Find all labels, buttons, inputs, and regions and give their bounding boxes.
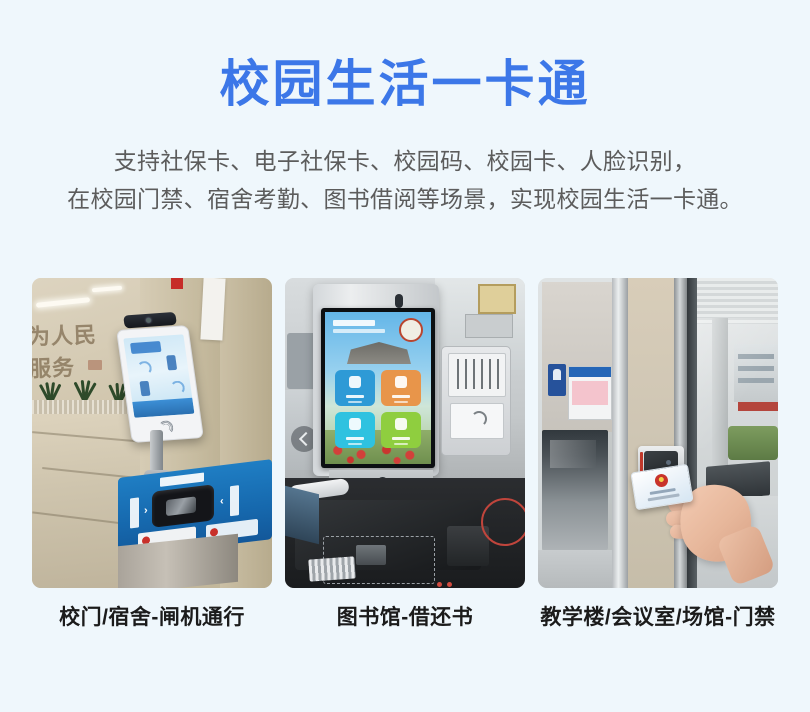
screen-tile-return[interactable]: [381, 370, 421, 406]
campus-gate-illustration: [347, 342, 411, 364]
national-emblem-icon: [654, 473, 669, 488]
reception-counter: [542, 430, 608, 550]
book-icon: [356, 545, 386, 565]
status-led: [447, 582, 452, 587]
status-led: [437, 582, 442, 587]
screen-title-text: [333, 320, 375, 326]
book-platform: [295, 500, 481, 570]
door-frame: [612, 278, 628, 588]
kiosk-screen[interactable]: [321, 308, 435, 468]
outdoor-column: [712, 318, 728, 468]
panel-title-text: [160, 472, 204, 486]
return-icon: [395, 376, 407, 388]
outdoor-building: [734, 344, 778, 402]
wall-frame: [478, 284, 516, 314]
potted-plant-icon: [72, 374, 98, 402]
camera-icon: [123, 312, 177, 329]
school-emblem-icon: [399, 318, 423, 342]
card-tap-area[interactable]: [450, 403, 504, 439]
renew-icon: [395, 418, 407, 430]
screen-tile-borrow[interactable]: [335, 370, 375, 406]
subtitle-line-1: 支持社保卡、电子社保卡、校园码、校园卡、人脸识别，: [0, 142, 810, 180]
kiosk-screen-ui: [325, 312, 431, 464]
outdoor-hedge: [728, 426, 778, 460]
stacked-books: [308, 556, 355, 581]
scenario-card-row: 为人民服务: [32, 278, 778, 632]
page-subtitle: 支持社保卡、电子社保卡、校园码、校园卡、人脸识别， 在校园门禁、宿舍考勤、图书借…: [0, 114, 810, 218]
wall-calligraphy: 为人民服务: [32, 317, 115, 360]
outdoor-signage: [738, 402, 778, 411]
scenario-card-building-access[interactable]: 教学楼/会议室/场馆-门禁: [538, 278, 778, 632]
wall-notice-paper: [200, 278, 225, 341]
panel-label-right: [230, 485, 239, 516]
card-caption-building-access: 教学楼/会议室/场馆-门禁: [538, 604, 778, 632]
scenario-card-library-borrow[interactable]: 图书馆-借还书: [285, 278, 525, 632]
promo-page: 校园生活一卡通 支持社保卡、电子社保卡、校园码、校园卡、人脸识别， 在校园门禁、…: [0, 0, 810, 712]
glass-reflection: [550, 440, 596, 468]
camera-icon: [395, 294, 403, 308]
scenario-card-gate-access[interactable]: 为人民服务: [32, 278, 272, 632]
wall-poster: [568, 366, 612, 420]
outdoor-canopy: [697, 278, 778, 324]
terminal-screen: [123, 334, 194, 417]
counter-edge: [285, 486, 319, 544]
screen-subtitle-text: [333, 329, 385, 333]
instruction-panel: [441, 346, 511, 456]
instruction-text-block: [448, 353, 506, 397]
photo-door-access: [538, 278, 778, 588]
screen-tile-search[interactable]: [335, 412, 375, 448]
highlight-ring: [481, 498, 525, 546]
card-caption-library-borrow: 图书馆-借还书: [285, 604, 525, 632]
card-caption-gate-access: 校门/宿舍-闸机通行: [32, 604, 272, 632]
status-indicator: [640, 452, 643, 472]
page-title: 校园生活一卡通: [0, 54, 810, 114]
wall-frame: [465, 314, 513, 338]
photo-gate-access: 为人民服务: [32, 278, 272, 588]
search-icon: [349, 418, 361, 430]
subtitle-line-2: 在校园门禁、宿舍考勤、图书借阅等场景，实现校园生活一卡通。: [0, 180, 810, 218]
screen-tile-renew[interactable]: [381, 412, 421, 448]
panel-label-left: [130, 497, 139, 528]
book-icon: [349, 376, 361, 388]
qr-scan-window: [152, 484, 214, 528]
header-block: 校园生活一卡通 支持社保卡、电子社保卡、校园码、校园卡、人脸识别， 在校园门禁、…: [0, 0, 810, 218]
photo-library-kiosk: [285, 278, 525, 588]
red-notice-tag: [171, 278, 183, 289]
calligraphy-seal-icon: [88, 360, 102, 370]
direction-sign-icon: [548, 364, 566, 396]
